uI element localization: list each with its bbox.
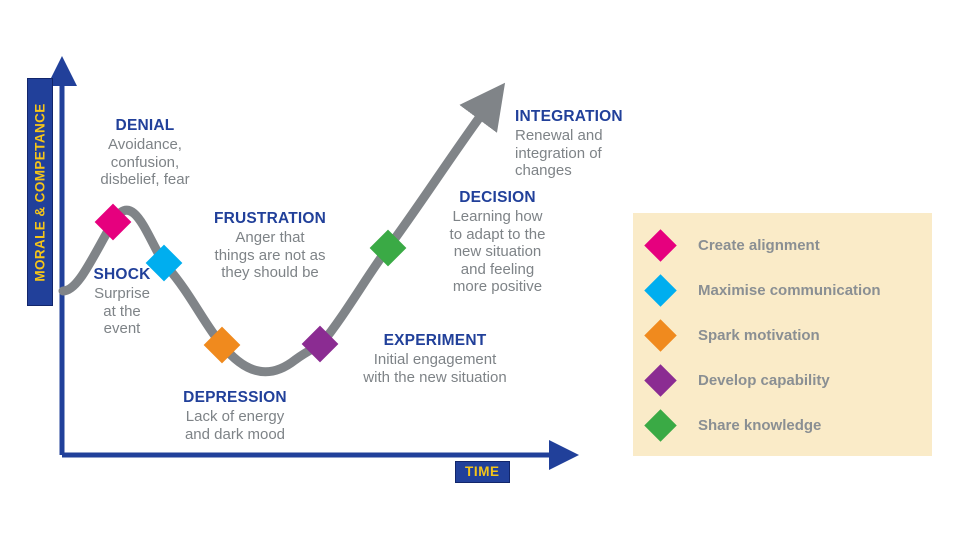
stage-desc-decision: Learning howto adapt to thenew situation… (425, 208, 570, 296)
stage-desc-denial: Avoidance,confusion,disbelief, fear (60, 136, 230, 189)
legend-diamond-icon-4 (644, 409, 677, 442)
stage-desc-frustration: Anger thatthings are not asthey should b… (180, 229, 360, 282)
y-axis-label-text: MORALE & COMPETANCE (33, 103, 48, 281)
stage-title-shock: SHOCK (62, 266, 182, 284)
legend-label-4: Share knowledge (698, 417, 821, 434)
x-axis-label: TIME (455, 461, 510, 483)
legend-diamond-icon-1 (644, 274, 677, 307)
stage-desc-depression: Lack of energyand dark mood (145, 408, 325, 443)
stage-label-shock: SHOCK Surpriseat theevent (62, 266, 182, 338)
legend-diamond-icon-2 (644, 319, 677, 352)
stage-title-denial: DENIAL (60, 117, 230, 135)
stage-label-depression: DEPRESSION Lack of energyand dark mood (145, 389, 325, 443)
legend-panel: Create alignment Maximise communication … (633, 213, 932, 456)
stage-desc-shock: Surpriseat theevent (62, 285, 182, 338)
stage-title-experiment: EXPERIMENT (335, 332, 535, 350)
stage-title-depression: DEPRESSION (145, 389, 325, 407)
stage-label-integration: INTEGRATION Renewal andintegration ofcha… (515, 108, 670, 180)
legend-label-2: Spark motivation (698, 327, 820, 344)
stage-label-denial: DENIAL Avoidance,confusion,disbelief, fe… (60, 117, 230, 189)
legend-item-2[interactable]: Spark motivation (649, 320, 820, 350)
stage-desc-experiment: Initial engagementwith the new situation (335, 351, 535, 386)
legend-item-0[interactable]: Create alignment (649, 230, 820, 260)
legend-diamond-icon-3 (644, 364, 677, 397)
legend-label-0: Create alignment (698, 237, 820, 254)
y-axis-label: MORALE & COMPETANCE (27, 78, 53, 306)
stage-title-decision: DECISION (425, 189, 570, 207)
legend-item-3[interactable]: Develop capability (649, 365, 830, 395)
legend-item-4[interactable]: Share knowledge (649, 410, 821, 440)
x-axis-label-text: TIME (465, 464, 500, 479)
stage-desc-integration: Renewal andintegration ofchanges (515, 127, 670, 180)
legend-label-3: Develop capability (698, 372, 830, 389)
stage-title-integration: INTEGRATION (515, 108, 670, 126)
legend-item-1[interactable]: Maximise communication (649, 275, 881, 305)
stage-label-decision: DECISION Learning howto adapt to thenew … (425, 189, 570, 296)
stage-label-frustration: FRUSTRATION Anger thatthings are not ast… (180, 210, 360, 282)
change-curve-diagram: MORALE & COMPETANCE TIME SHOCK Surprisea… (0, 0, 960, 540)
stage-title-frustration: FRUSTRATION (180, 210, 360, 228)
stage-label-experiment: EXPERIMENT Initial engagementwith the ne… (335, 332, 535, 386)
legend-label-1: Maximise communication (698, 282, 881, 299)
legend-diamond-icon-0 (644, 229, 677, 262)
